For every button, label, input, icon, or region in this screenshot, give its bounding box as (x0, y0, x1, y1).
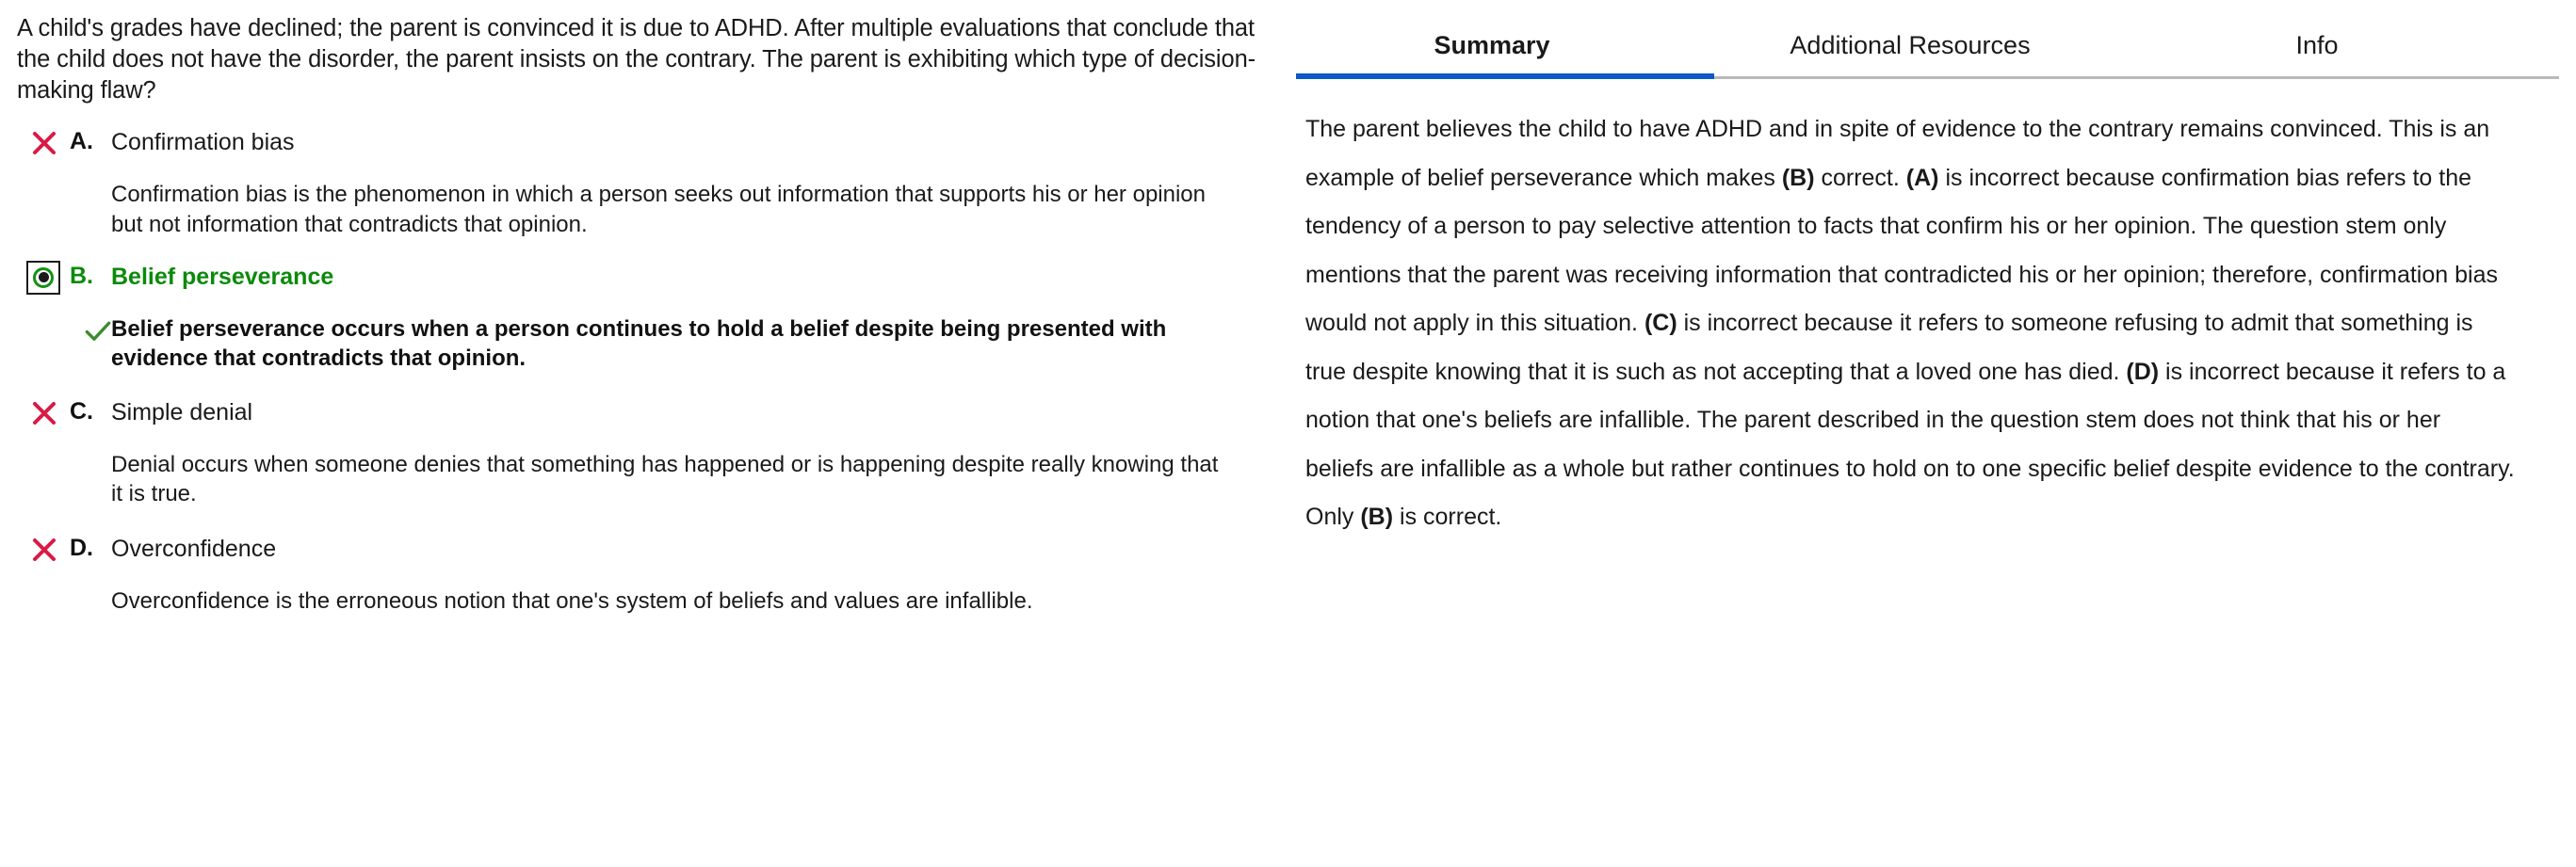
question-review-screen: A child's grades have declined; the pare… (0, 0, 2576, 867)
option-d[interactable]: D. Overconfidence Overconfidence is the … (17, 534, 1256, 616)
radio-dot (39, 272, 49, 282)
radio-ring (33, 267, 54, 288)
option-c-explanation-row: Denial occurs when someone denies that s… (17, 450, 1256, 508)
explanation-spacer (17, 586, 111, 590)
option-c-label: Simple denial (111, 397, 252, 427)
question-pane: A child's grades have declined; the pare… (0, 0, 1283, 867)
summary-text: The parent believes the child to have AD… (1283, 79, 2535, 542)
explanation-spacer (17, 180, 111, 184)
option-b-explanation-row: Belief perseverance occurs when a person… (17, 314, 1256, 373)
detail-pane: Summary Additional Resources Info The pa… (1283, 0, 2576, 867)
option-b-explanation: Belief perseverance occurs when a person… (111, 314, 1223, 373)
tab-additional-resources[interactable]: Additional Resources (1701, 31, 2119, 79)
tab-summary[interactable]: Summary (1283, 31, 1701, 79)
radio-focus-box[interactable] (26, 261, 60, 295)
x-mark-icon (17, 127, 70, 157)
detail-tabs: Summary Additional Resources Info (1283, 0, 2576, 79)
option-b-letter: B. (70, 262, 111, 290)
answer-options-list: A. Confirmation bias Confirmation bias i… (17, 127, 1256, 615)
option-a-explanation: Confirmation bias is the phenomenon in w… (111, 180, 1223, 238)
option-b-header[interactable]: B. Belief perseverance (17, 262, 1256, 301)
option-a-header[interactable]: A. Confirmation bias (17, 127, 1256, 167)
option-a-explanation-row: Confirmation bias is the phenomenon in w… (17, 180, 1256, 238)
x-mark-icon (17, 397, 70, 427)
option-c-explanation: Denial occurs when someone denies that s… (111, 450, 1223, 508)
check-mark-icon (17, 314, 111, 345)
option-c-header[interactable]: C. Simple denial (17, 397, 1256, 437)
option-a-label: Confirmation bias (111, 127, 295, 157)
option-c[interactable]: C. Simple denial Denial occurs when some… (17, 397, 1256, 508)
option-d-label: Overconfidence (111, 534, 276, 564)
option-d-explanation-row: Overconfidence is the erroneous notion t… (17, 586, 1256, 616)
option-d-header[interactable]: D. Overconfidence (17, 534, 1256, 573)
radio-selected-icon[interactable] (17, 262, 70, 295)
option-a[interactable]: A. Confirmation bias Confirmation bias i… (17, 127, 1256, 238)
option-d-explanation: Overconfidence is the erroneous notion t… (111, 586, 1032, 616)
option-d-letter: D. (70, 534, 111, 562)
option-a-letter: A. (70, 127, 111, 155)
tab-info[interactable]: Info (2119, 31, 2515, 79)
option-b[interactable]: B. Belief perseverance Belief perseveran… (17, 262, 1256, 373)
active-tab-indicator (1296, 73, 1714, 79)
explanation-spacer (17, 450, 111, 454)
question-stem: A child's grades have declined; the pare… (17, 13, 1256, 106)
option-c-letter: C. (70, 397, 111, 425)
x-mark-icon (17, 534, 70, 564)
option-b-label: Belief perseverance (111, 262, 333, 292)
